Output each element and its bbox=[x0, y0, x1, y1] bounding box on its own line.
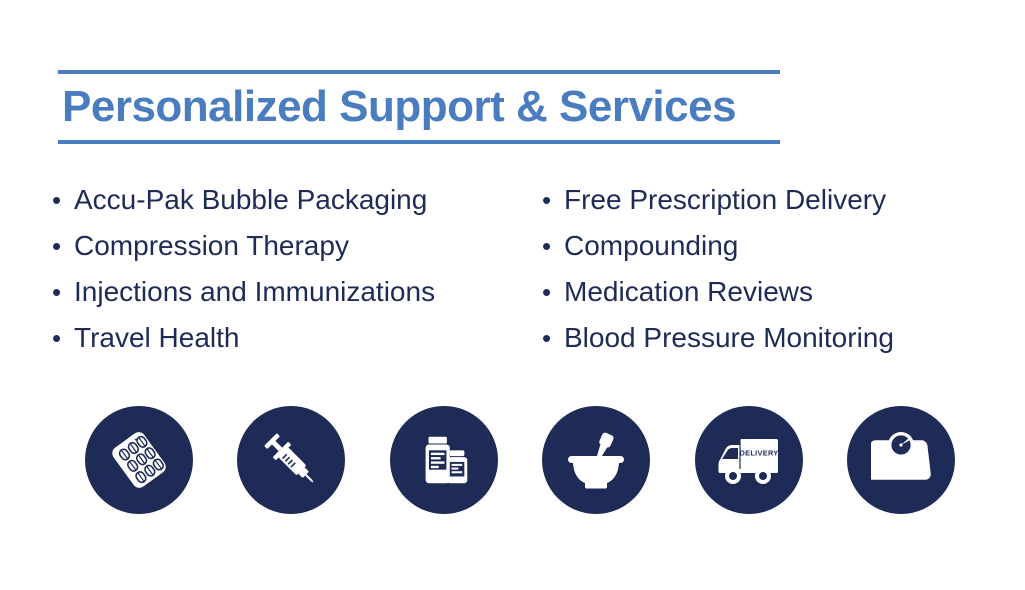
icon-badge-blister-pack bbox=[85, 406, 193, 514]
list-item: • Compression Therapy bbox=[52, 224, 542, 270]
blister-pack-icon bbox=[107, 428, 171, 492]
syringe-icon bbox=[259, 428, 323, 492]
service-label: Medication Reviews bbox=[564, 270, 813, 314]
truck-delivery-text: DELIVERY bbox=[739, 449, 778, 458]
bullet-icon: • bbox=[542, 316, 564, 360]
icon-row: DELIVERY bbox=[85, 406, 955, 514]
list-item: • Injections and Immunizations bbox=[52, 270, 542, 316]
bullet-icon: • bbox=[52, 316, 74, 360]
pill-bottles-icon bbox=[413, 429, 475, 491]
bullet-icon: • bbox=[542, 270, 564, 314]
service-label: Blood Pressure Monitoring bbox=[564, 316, 894, 360]
service-label: Compression Therapy bbox=[74, 224, 349, 268]
icon-badge-weight-scale bbox=[847, 406, 955, 514]
page-title: Personalized Support & Services bbox=[58, 74, 780, 140]
list-item: • Travel Health bbox=[52, 316, 542, 362]
list-item: • Medication Reviews bbox=[542, 270, 982, 316]
icon-badge-delivery-truck: DELIVERY bbox=[695, 406, 803, 514]
services-column-left: • Accu-Pak Bubble Packaging • Compressio… bbox=[52, 178, 542, 362]
title-block: Personalized Support & Services bbox=[58, 70, 780, 144]
icon-badge-syringe bbox=[237, 406, 345, 514]
service-label: Injections and Immunizations bbox=[74, 270, 435, 314]
services-column-right: • Free Prescription Delivery • Compoundi… bbox=[542, 178, 982, 362]
service-label: Travel Health bbox=[74, 316, 239, 360]
mortar-and-pestle-icon bbox=[564, 430, 628, 490]
bullet-icon: • bbox=[52, 178, 74, 222]
bullet-icon: • bbox=[542, 178, 564, 222]
title-rule-bottom bbox=[58, 140, 780, 144]
list-item: • Compounding bbox=[542, 224, 982, 270]
icon-badge-pill-bottles bbox=[390, 406, 498, 514]
slide-canvas: Personalized Support & Services • Accu-P… bbox=[0, 0, 1025, 590]
bullet-icon: • bbox=[542, 224, 564, 268]
delivery-truck-icon: DELIVERY bbox=[716, 433, 782, 487]
service-label: Free Prescription Delivery bbox=[564, 178, 886, 222]
list-item: • Free Prescription Delivery bbox=[542, 178, 982, 224]
weight-scale-icon bbox=[871, 431, 931, 489]
bullet-icon: • bbox=[52, 270, 74, 314]
list-item: • Accu-Pak Bubble Packaging bbox=[52, 178, 542, 224]
list-item: • Blood Pressure Monitoring bbox=[542, 316, 982, 362]
service-label: Accu-Pak Bubble Packaging bbox=[74, 178, 427, 222]
service-label: Compounding bbox=[564, 224, 738, 268]
bullet-icon: • bbox=[52, 224, 74, 268]
icon-badge-mortar-pestle bbox=[542, 406, 650, 514]
services-lists: • Accu-Pak Bubble Packaging • Compressio… bbox=[52, 178, 982, 362]
